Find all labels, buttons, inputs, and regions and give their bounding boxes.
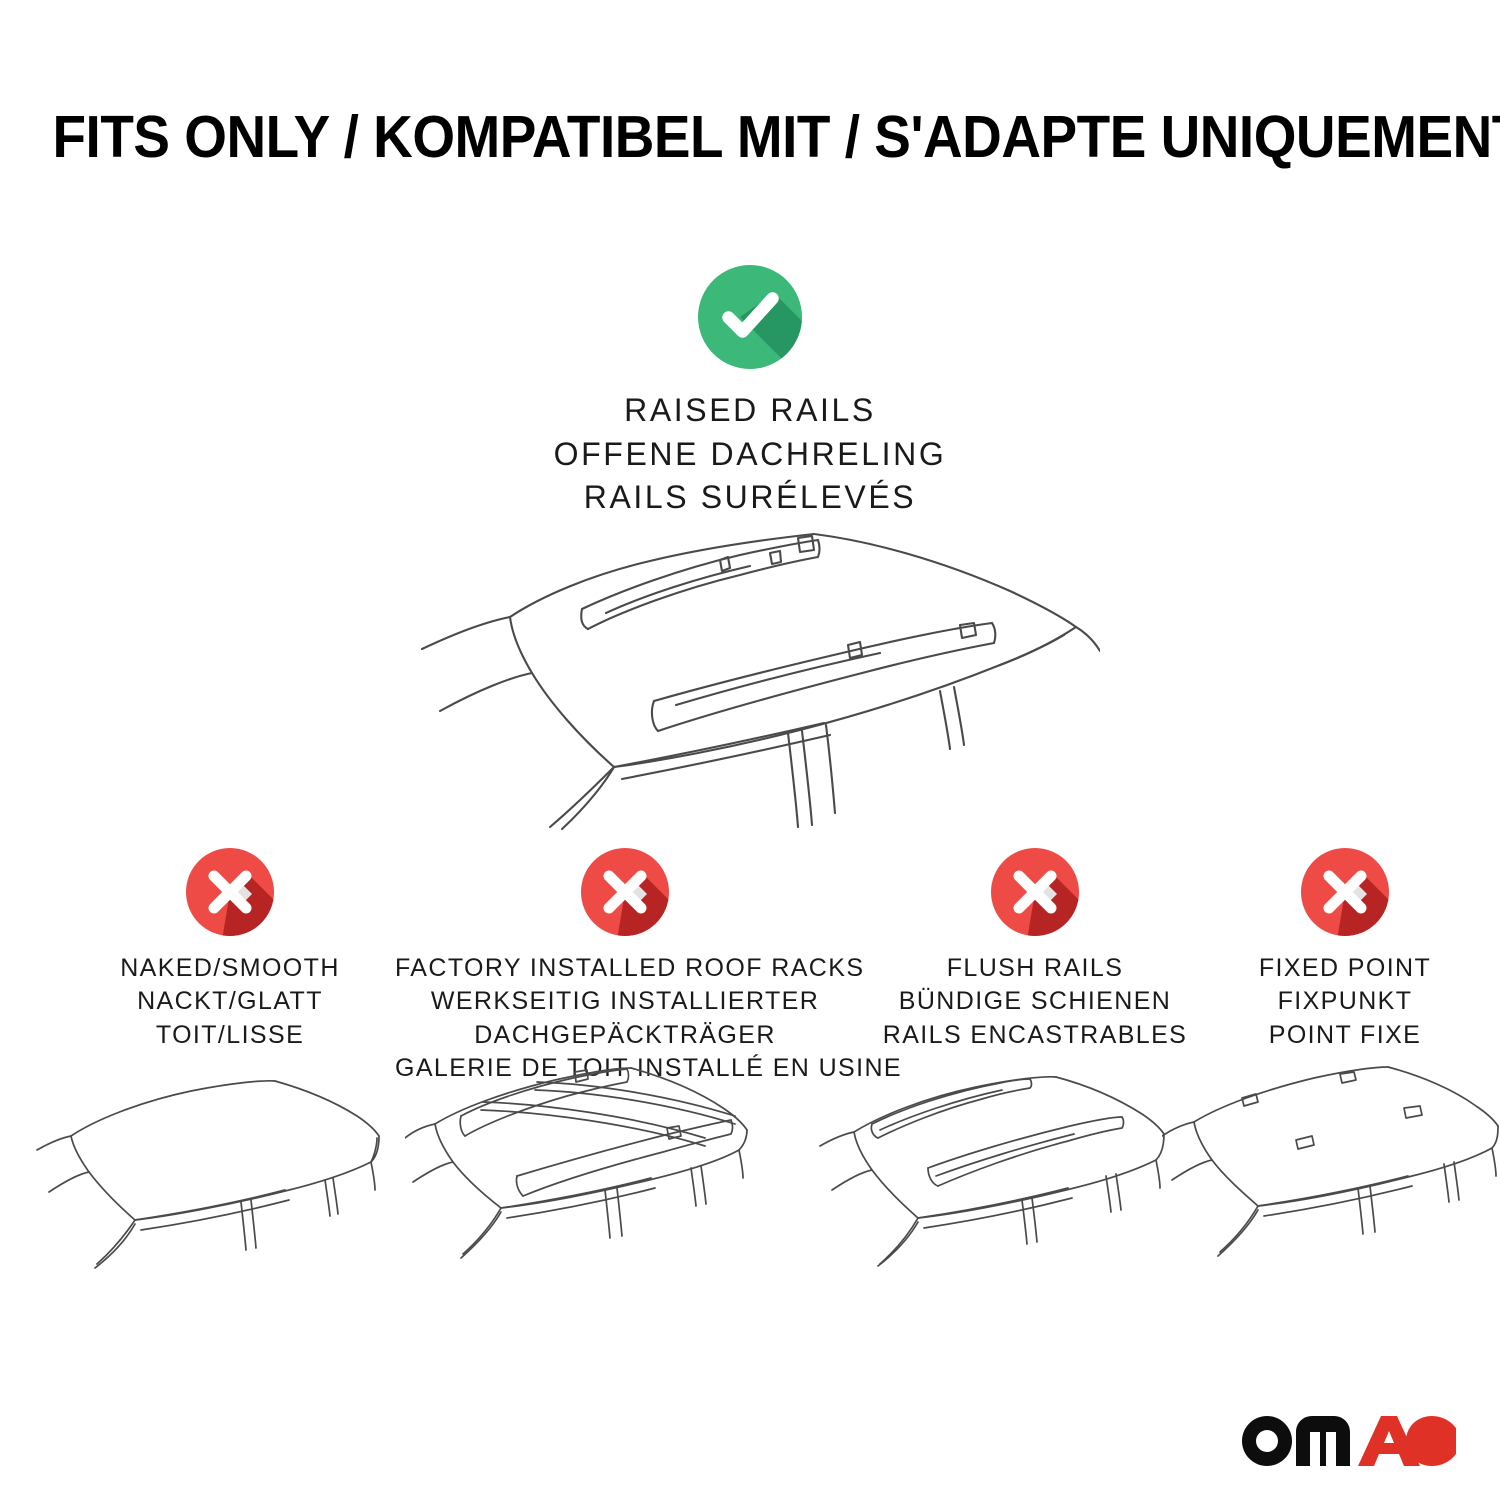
logo-letter-o [1242,1416,1292,1466]
incompatible-section: NAKED/SMOOTH NACKT/GLATT TOIT/LISSE FACT… [0,848,1500,1088]
factory-roof-racks-illustration [405,1058,775,1288]
incompatible-label-fr: RAILS ENCASTRABLES [855,1019,1215,1052]
x-circle-icon [1301,848,1389,936]
incompatible-item-naked-smooth: NAKED/SMOOTH NACKT/GLATT TOIT/LISSE [40,848,420,1052]
incompatible-item-fixed-point: FIXED POINT FIXPUNKT POINT FIXE [1200,848,1490,1052]
logo-letter-c [1406,1416,1456,1466]
compatible-labels: RAISED RAILS OFFENE DACHRELING RAILS SUR… [0,389,1500,520]
incompatible-label-de-1: WERKSEITIG INSTALLIERTER [395,985,855,1018]
raised-rails-illustration [400,505,1100,835]
incompatible-label-fr: POINT FIXE [1200,1019,1490,1052]
incompatible-item-factory-roof-racks: FACTORY INSTALLED ROOF RACKS WERKSEITIG … [395,848,855,1085]
x-circle-icon [186,848,274,936]
compatible-section: RAISED RAILS OFFENE DACHRELING RAILS SUR… [0,265,1500,520]
omac-logo [1234,1410,1456,1472]
incompatible-label-en: NAKED/SMOOTH [40,952,420,985]
incompatible-label-de: FIXPUNKT [1200,985,1490,1018]
incompatible-label-en: FACTORY INSTALLED ROOF RACKS [395,952,855,985]
x-circle-icon [991,848,1079,936]
incompatible-labels: NAKED/SMOOTH NACKT/GLATT TOIT/LISSE [40,952,420,1052]
incompatible-labels: FIXED POINT FIXPUNKT POINT FIXE [1200,952,1490,1052]
x-circle-icon [581,848,669,936]
compatible-label-de: OFFENE DACHRELING [0,433,1500,477]
page-title: FITS ONLY / KOMPATIBEL MIT / S'ADAPTE UN… [53,103,1448,171]
logo-letter-m [1296,1416,1350,1466]
incompatible-label-en: FLUSH RAILS [855,952,1215,985]
compatible-label-en: RAISED RAILS [0,389,1500,433]
incompatible-labels: FLUSH RAILS BÜNDIGE SCHIENEN RAILS ENCAS… [855,952,1215,1052]
naked-smooth-illustration [35,1058,405,1288]
fixed-point-illustration [1162,1058,1500,1288]
incompatible-label-de: NACKT/GLATT [40,985,420,1018]
incompatible-label-fr: TOIT/LISSE [40,1019,420,1052]
incompatible-label-de: BÜNDIGE SCHIENEN [855,985,1215,1018]
check-circle-icon [698,265,802,369]
incompatible-label-en: FIXED POINT [1200,952,1490,985]
incompatible-label-de-2: DACHGEPÄCKTRÄGER [395,1019,855,1052]
incompatible-item-flush-rails: FLUSH RAILS BÜNDIGE SCHIENEN RAILS ENCAS… [855,848,1215,1052]
flush-rails-illustration [818,1058,1188,1288]
